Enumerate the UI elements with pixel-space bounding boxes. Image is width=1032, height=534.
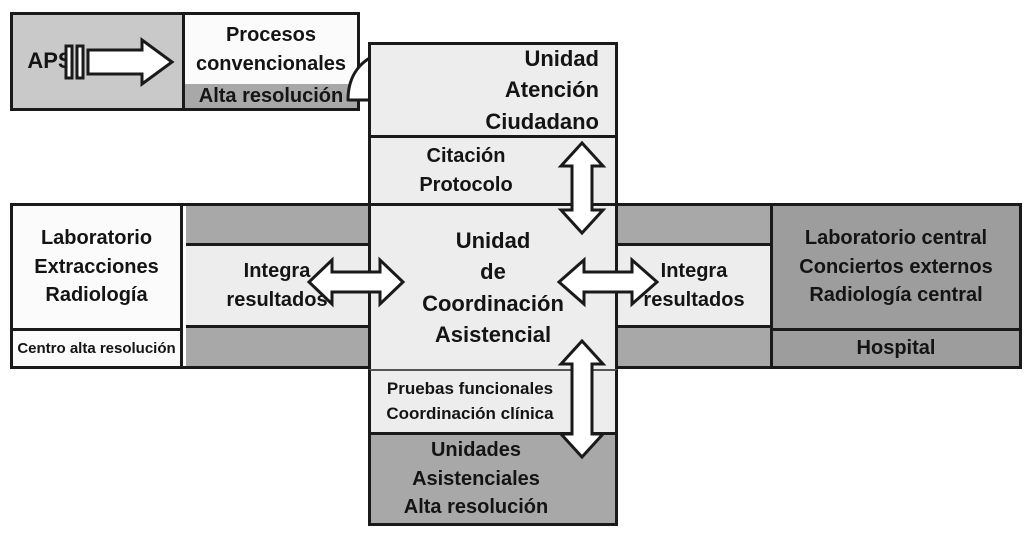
citizen-unit-line-2: Atención (505, 74, 599, 105)
conventional-processes-block: Procesos convencionales (182, 12, 360, 84)
right-services-block: Laboratorio central Conciertos externos … (770, 206, 1019, 328)
top-vertical-double-arrow (558, 140, 606, 236)
left-upper-gray-band (186, 206, 368, 243)
coordination-line-1: Unidad (456, 225, 531, 256)
right-lower-gray-band (618, 328, 770, 366)
right-integrate-line-1: Integra (661, 257, 728, 285)
right-horizontal-double-arrow (556, 256, 660, 308)
care-units-line-3: Alta resolución (404, 493, 548, 521)
left-integrate-line-1: Integra (244, 257, 311, 285)
functional-tests-line-1: Pruebas funcionales (387, 377, 553, 401)
left-services-block: Laboratorio Extracciones Radiología (13, 206, 183, 328)
care-units-line-1: Unidades (431, 436, 521, 464)
right-upper-gray-band (618, 206, 770, 243)
appointment-line-1: Citación (427, 142, 506, 170)
right-service-1: Laboratorio central (805, 224, 987, 252)
left-high-resolution-center: Centro alta resolución (13, 328, 183, 366)
citizen-unit-line-1: Unidad (524, 43, 599, 74)
left-service-2: Extracciones (34, 253, 159, 281)
right-service-2: Conciertos externos (799, 253, 992, 281)
care-units-line-2: Asistenciales (412, 465, 540, 493)
processes-line-1: Procesos (226, 21, 316, 49)
coordination-line-3: Coordinación (422, 288, 564, 319)
left-service-3: Radiología (45, 281, 147, 309)
bottom-vertical-double-arrow (558, 338, 606, 460)
coordination-line-2: de (480, 256, 506, 287)
right-service-3: Radiología central (809, 281, 982, 309)
aps-flow-arrow (64, 38, 176, 86)
citizen-unit-line-3: Ciudadano (485, 106, 599, 137)
left-lower-gray-band (186, 328, 368, 366)
appointment-line-2: Protocolo (419, 171, 512, 199)
left-horizontal-double-arrow (306, 256, 406, 308)
citizen-care-unit-block: Unidad Atención Ciudadano (368, 42, 618, 138)
functional-tests-line-2: Coordinación clínica (386, 402, 553, 426)
coordination-line-4: Asistencial (435, 319, 551, 350)
processes-line-2: convencionales (196, 50, 346, 78)
left-service-1: Laboratorio (41, 224, 152, 252)
high-resolution-band: Alta resolución (182, 84, 360, 111)
hospital-block: Hospital (770, 328, 1019, 366)
diagram-canvas: APS Procesos convencionales Alta resoluc… (0, 0, 1032, 534)
